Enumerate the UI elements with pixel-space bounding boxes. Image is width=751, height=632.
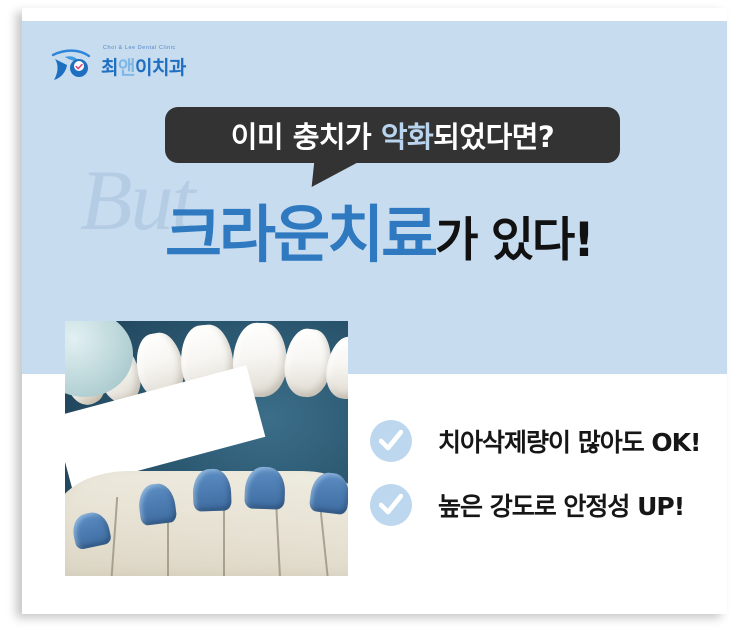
clinic-name-part3: 이치과 xyxy=(135,57,186,79)
promo-banner: Choi & Lee Dental Clinic 최앤이치과 이미 충치가 악화… xyxy=(0,0,751,632)
bubble-text-highlight: 악화 xyxy=(381,120,433,154)
dental-crown-model-photo xyxy=(65,321,348,576)
dental-swoosh-logo-icon xyxy=(49,47,93,85)
list-item-label: 높은 강도로 안정성 UP! xyxy=(438,487,684,523)
page-title: 크라운치료가 있다! xyxy=(165,204,593,266)
check-icon xyxy=(370,420,412,462)
speech-bubble-text: 이미 충치가 악화되었다면? xyxy=(231,114,555,156)
model-groove xyxy=(110,497,118,576)
check-icon xyxy=(370,484,412,526)
speech-bubble-tail xyxy=(312,161,361,187)
clinic-tagline: Choi & Lee Dental Clinic xyxy=(103,45,176,51)
clinic-logo[interactable]: Choi & Lee Dental Clinic 최앤이치과 xyxy=(49,43,194,89)
speech-bubble-body: 이미 충치가 악화되었다면? xyxy=(165,107,620,163)
bubble-text-before: 이미 충치가 xyxy=(231,120,381,154)
clinic-name-part2: 앤 xyxy=(118,57,135,79)
list-item-label: 치아삭제량이 많아도 OK! xyxy=(438,423,700,459)
prepared-tooth-stump xyxy=(244,466,285,509)
content-area: Choi & Lee Dental Clinic 최앤이치과 이미 충치가 악화… xyxy=(22,21,727,601)
clinic-name: 최앤이치과 xyxy=(101,53,186,80)
bubble-text-after: 되었다면? xyxy=(433,120,554,154)
clinic-name-part1: 최 xyxy=(101,57,118,79)
list-item: 치아삭제량이 많아도 OK! xyxy=(370,409,700,473)
speech-bubble: 이미 충치가 악화되었다면? xyxy=(165,107,620,167)
headline-keyword: 크라운치료 xyxy=(165,198,435,271)
headline-suffix: 가 있다! xyxy=(435,213,593,268)
benefits-list: 치아삭제량이 많아도 OK! 높은 강도로 안정성 UP! xyxy=(370,409,700,537)
list-item: 높은 강도로 안정성 UP! xyxy=(370,473,700,537)
white-frame: Choi & Lee Dental Clinic 최앤이치과 이미 충치가 악화… xyxy=(22,8,727,614)
